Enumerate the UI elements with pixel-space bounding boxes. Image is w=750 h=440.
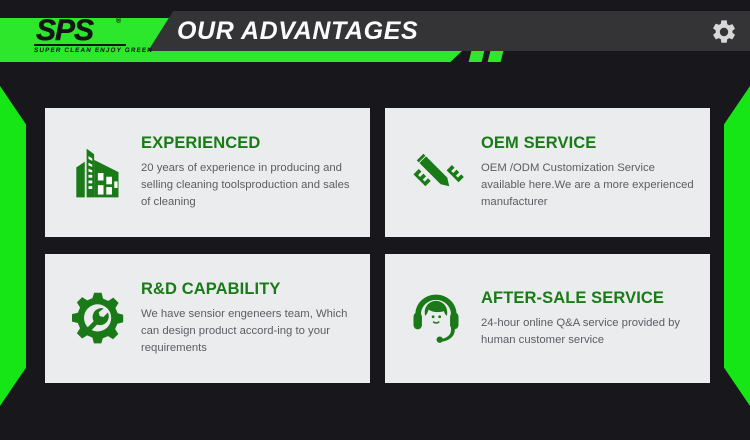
card-title: AFTER-SALE SERVICE bbox=[481, 289, 696, 308]
logo-wordmark: SPS bbox=[36, 16, 93, 46]
page-title: OUR ADVANTAGES bbox=[177, 12, 418, 52]
logo-divider-rule bbox=[34, 44, 126, 46]
right-chevron-accent bbox=[724, 86, 750, 406]
pencil-wrench-icon bbox=[403, 140, 469, 206]
card-title: OEM SERVICE bbox=[481, 134, 696, 153]
header-accent-dash-1 bbox=[469, 51, 485, 62]
logo-tagline: SUPER CLEAN ENJOY GREEN bbox=[34, 47, 131, 54]
card-body: AFTER-SALE SERVICE 24-hour online Q&A se… bbox=[481, 289, 696, 349]
brand-logo[interactable]: SPS ® SUPER CLEAN ENJOY GREEN bbox=[28, 16, 148, 58]
logo-registered-mark: ® bbox=[116, 18, 121, 25]
gear-wrench-icon bbox=[63, 286, 129, 352]
card-body: OEM SERVICE OEM /ODM Customization Servi… bbox=[481, 134, 696, 211]
card-description: 20 years of experience in producing and … bbox=[141, 160, 356, 211]
advantage-card-experienced[interactable]: EXPERIENCED 20 years of experience in pr… bbox=[45, 108, 370, 237]
left-chevron-accent bbox=[0, 86, 26, 406]
card-description: OEM /ODM Customization Service available… bbox=[481, 160, 696, 211]
card-body: EXPERIENCED 20 years of experience in pr… bbox=[141, 134, 356, 211]
gear-icon[interactable] bbox=[710, 18, 738, 46]
card-body: R&D CAPABILITY We have sensior engeneers… bbox=[141, 280, 356, 357]
advantages-grid: EXPERIENCED 20 years of experience in pr… bbox=[45, 108, 710, 383]
building-icon bbox=[63, 140, 129, 206]
advantages-banner: OUR ADVANTAGES SPS ® SUPER CLEAN ENJOY G… bbox=[0, 0, 750, 440]
headset-support-icon bbox=[403, 286, 469, 352]
card-description: We have sensior engeneers team, Which ca… bbox=[141, 306, 356, 357]
header-accent-dash-2 bbox=[488, 51, 504, 62]
card-description: 24-hour online Q&A service provided by h… bbox=[481, 315, 696, 349]
advantage-card-oem-service[interactable]: OEM SERVICE OEM /ODM Customization Servi… bbox=[385, 108, 710, 237]
card-title: EXPERIENCED bbox=[141, 134, 356, 153]
advantage-card-after-sale-service[interactable]: AFTER-SALE SERVICE 24-hour online Q&A se… bbox=[385, 254, 710, 383]
card-title: R&D CAPABILITY bbox=[141, 280, 356, 299]
advantage-card-rd-capability[interactable]: R&D CAPABILITY We have sensior engeneers… bbox=[45, 254, 370, 383]
